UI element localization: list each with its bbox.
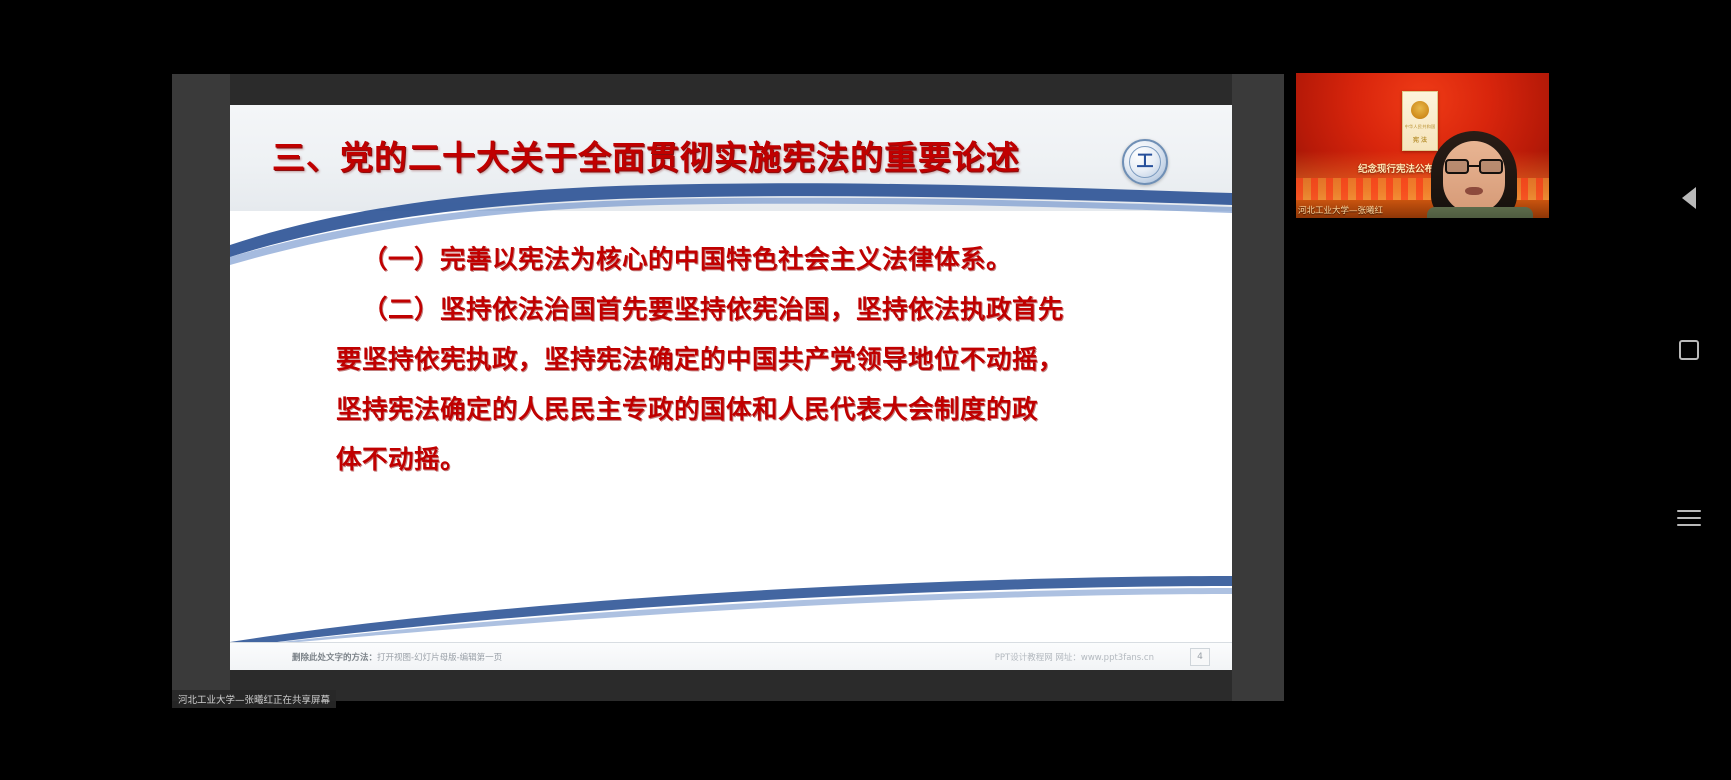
home-icon[interactable] (1671, 332, 1707, 368)
university-emblem-icon: 工 (1122, 139, 1168, 185)
glasses-icon (1445, 159, 1503, 174)
body-line-3: 要坚持依宪执政，坚持宪法确定的中国共产党领导地位不动摇， (336, 335, 1166, 385)
book-title-line1: 中华人民共和国 (1405, 124, 1436, 130)
glasses-bridge (1469, 165, 1479, 167)
back-triangle (1682, 187, 1696, 209)
slide-footer: 删除此处文字的方法：打开视图-幻灯片母版-编辑第一页 PPT设计教程网 网址：w… (230, 642, 1232, 670)
body-line-4: 坚持宪法确定的人民民主专政的国体和人民代表大会制度的政 (336, 385, 1166, 435)
back-icon[interactable] (1671, 180, 1707, 216)
slide-body-text: （一）完善以宪法为核心的中国特色社会主义法律体系。 （二）坚持依法治国首先要坚持… (336, 235, 1166, 485)
footer-note-label: 删除此处文字的方法： (292, 653, 377, 663)
slide-title: 三、党的二十大关于全面贯彻实施宪法的重要论述 (272, 131, 1020, 179)
slide-footer-credit: PPT设计教程网 网址：www.ppt3fans.cn (995, 651, 1154, 663)
presenter-name-label: 河北工业大学—张曦红 (1298, 204, 1383, 216)
decorative-swoosh-bottom (230, 538, 1232, 648)
presenter-avatar (1421, 131, 1539, 219)
shared-screen-area[interactable]: 三、党的二十大关于全面贯彻实施宪法的重要论述 工 （一）完善以宪法为核心的中国特… (172, 74, 1284, 701)
presenter-face (1443, 141, 1505, 213)
device-screen: 三、党的二十大关于全面贯彻实施宪法的重要论述 工 （一）完善以宪法为核心的中国特… (0, 0, 1731, 780)
menu-lines (1677, 505, 1701, 531)
screen-sharing-banner: 河北工业大学—张曦红正在共享屏幕 (172, 690, 336, 708)
slide-page-number: 4 (1190, 648, 1210, 666)
footer-note-rest: 打开视图-幻灯片母版-编辑第一页 (377, 653, 502, 663)
glasses-lens-left (1445, 159, 1469, 174)
share-letterbox-right (1232, 74, 1284, 701)
emblem-glyph: 工 (1137, 154, 1154, 171)
slide-footer-left-note: 删除此处文字的方法：打开视图-幻灯片母版-编辑第一页 (292, 651, 502, 663)
body-line-2: （二）坚持依法治国首先要坚持依宪治国，坚持依法执政首先 (336, 285, 1166, 335)
presenter-video-tile[interactable]: 中华人民共和国 宪 法 纪念现行宪法公布施行 河北工业大学—张曦红 (1295, 72, 1550, 219)
body-line-5: 体不动摇。 (336, 435, 1166, 485)
body-line-1: （一）完善以宪法为核心的中国特色社会主义法律体系。 (336, 235, 1166, 285)
navigation-bar (1646, 0, 1731, 780)
glasses-lens-right (1479, 159, 1503, 174)
share-letterbox-left (172, 74, 230, 701)
national-emblem-icon (1411, 101, 1429, 119)
presenter-mouth (1465, 187, 1483, 195)
presentation-slide[interactable]: 三、党的二十大关于全面贯彻实施宪法的重要论述 工 （一）完善以宪法为核心的中国特… (230, 105, 1232, 670)
presenter-torso (1427, 207, 1533, 219)
menu-icon[interactable] (1671, 500, 1707, 536)
home-square (1679, 340, 1699, 360)
